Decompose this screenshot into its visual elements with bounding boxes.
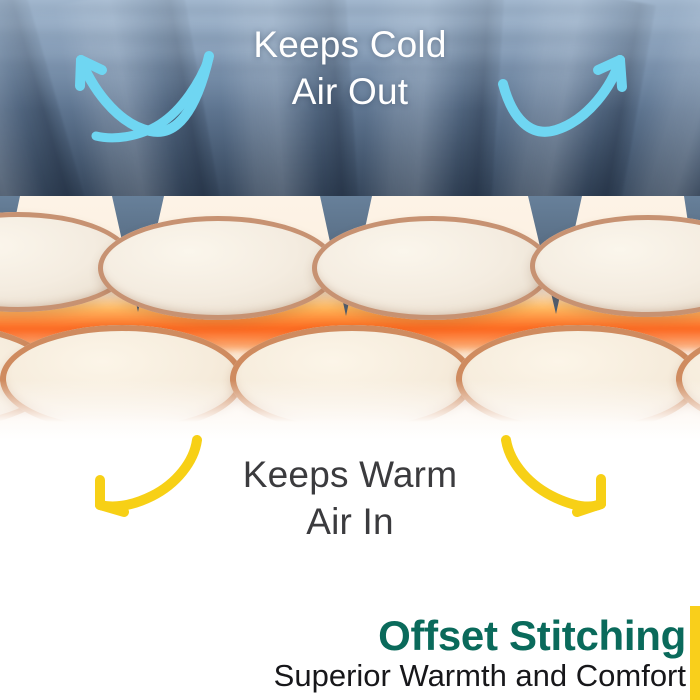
keeps-cold-air-out-callout: Keeps Cold Air Out xyxy=(0,22,700,115)
warm-callout-line2: Air In xyxy=(0,499,700,546)
footer-headline: Offset Stitching xyxy=(274,614,686,658)
footer-band: Offset Stitching Superior Warmth and Com… xyxy=(0,588,700,700)
baffle-tube-upper xyxy=(98,216,338,320)
cold-callout-line1: Keeps Cold xyxy=(0,22,700,69)
poster-root: Keeps Cold Air Out Keeps Warm Air In Off… xyxy=(0,0,700,700)
footer-subheadline: Superior Warmth and Comfort xyxy=(274,659,686,694)
accent-bar-yellow xyxy=(690,606,700,700)
scene-bottom-fade xyxy=(0,380,700,440)
footer-text-group: Offset Stitching Superior Warmth and Com… xyxy=(274,614,686,694)
cold-callout-line2: Air Out xyxy=(0,69,700,116)
warm-callout-line1: Keeps Warm xyxy=(0,452,700,499)
baffle-tube-upper xyxy=(312,216,552,320)
keeps-warm-air-in-callout: Keeps Warm Air In xyxy=(0,452,700,545)
